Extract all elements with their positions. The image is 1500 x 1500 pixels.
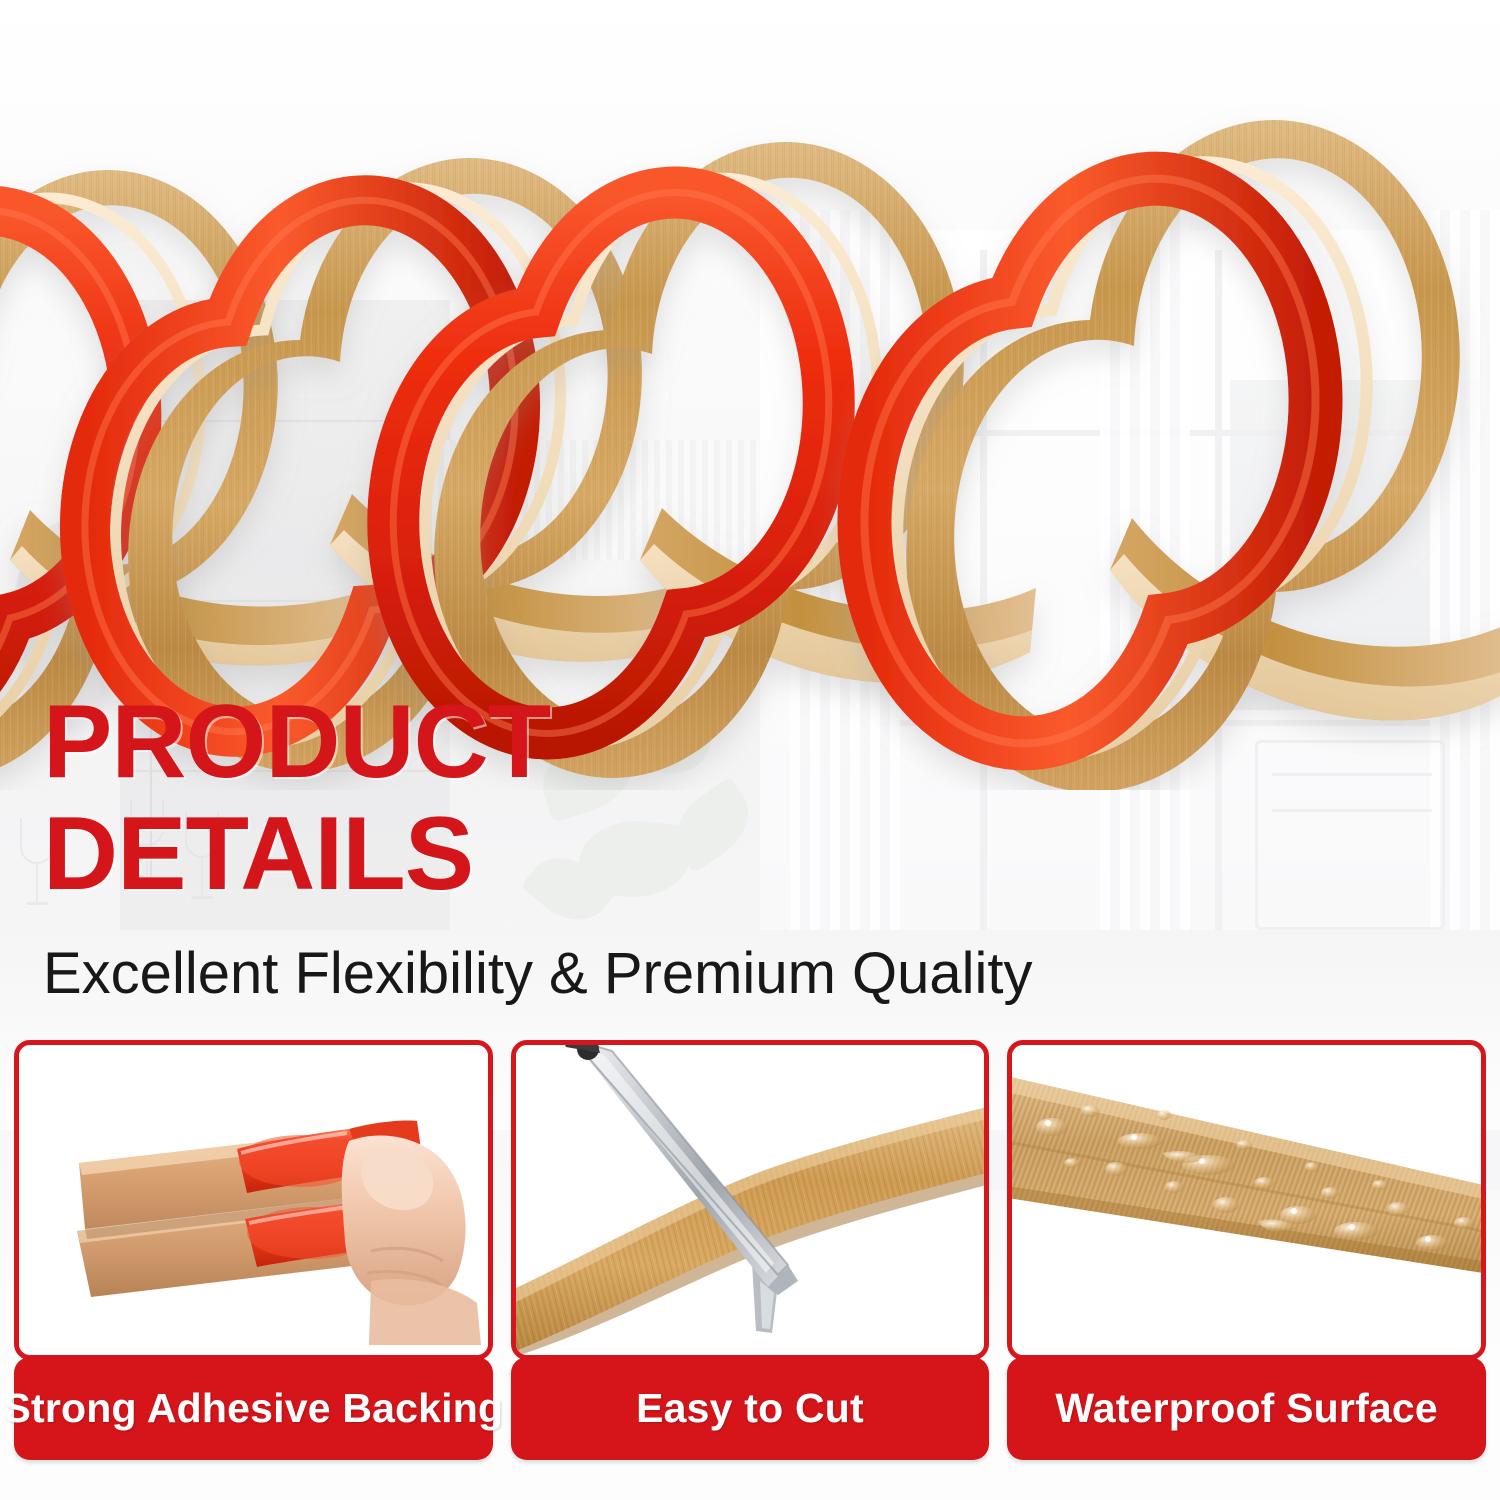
panel-caption-waterproof: Waterproof Surface: [1007, 1357, 1486, 1460]
panel-caption-text: Waterproof Surface: [1055, 1385, 1438, 1432]
panel-caption-text: Easy to Cut: [636, 1385, 864, 1432]
art-scissors-cutting-band: [516, 1045, 985, 1355]
feature-panel-adhesive[interactable]: Strong Adhesive Backing: [14, 1040, 493, 1460]
panel-caption-adhesive: Strong Adhesive Backing: [14, 1357, 493, 1460]
page-title: PRODUCT DETAILS: [43, 686, 943, 910]
feature-panels: Strong Adhesive Backing: [14, 1040, 1486, 1460]
panel-caption-cut: Easy to Cut: [511, 1357, 990, 1460]
page-subtitle: Excellent Flexibility & Premium Quality: [43, 940, 1033, 1008]
art-water-droplets-on-band: [1012, 1045, 1481, 1355]
art-hand-peeling-adhesive: [19, 1045, 488, 1355]
product-details-infographic: PRODUCT DETAILS Excellent Flexibility & …: [0, 0, 1500, 1500]
title-line-2: DETAILS: [43, 798, 943, 910]
panel-image-frame: [14, 1040, 493, 1360]
coil-4: [864, 120, 1500, 790]
feature-panel-waterproof[interactable]: Waterproof Surface: [1007, 1040, 1486, 1460]
panel-image-frame: [1007, 1040, 1486, 1360]
feature-panel-cut[interactable]: Easy to Cut: [511, 1040, 990, 1460]
title-line-1: PRODUCT: [43, 686, 943, 798]
panel-caption-text: Strong Adhesive Backing: [3, 1385, 503, 1432]
panel-image-frame: [511, 1040, 990, 1360]
